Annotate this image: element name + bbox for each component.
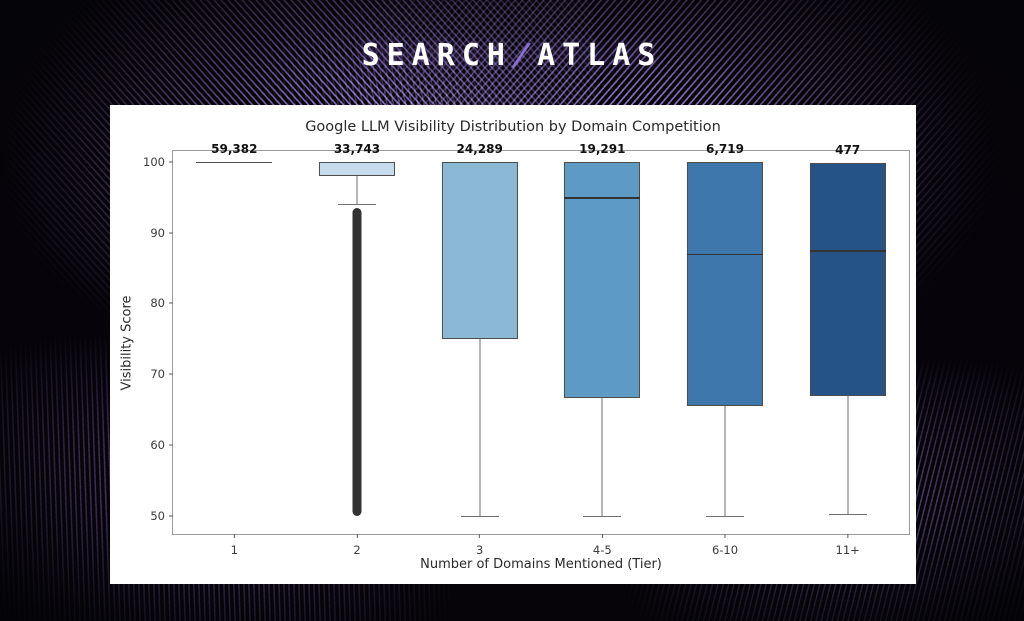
y-axis-tick-90: 90 [150, 226, 173, 240]
x-axis-tick-1: 1 [231, 534, 238, 557]
box-plot-group: 33,743 [296, 151, 419, 534]
flat-box-1 [196, 162, 272, 164]
x-axis-tick-11+: 11+ [836, 534, 860, 557]
x-axis-tick-2: 2 [353, 534, 360, 557]
y-axis-tick-50: 50 [150, 509, 173, 523]
plot-area: 506070809010059,382133,743224,289319,291… [172, 150, 910, 535]
outlier-cluster [352, 208, 361, 517]
box-plot-group: 59,382 [173, 151, 296, 534]
box-11+ [810, 163, 886, 396]
lower-whisker [602, 398, 603, 516]
box-count-label: 477 [835, 143, 860, 157]
lower-whisker [479, 339, 480, 516]
median-line [687, 254, 763, 256]
lower-whisker-cap [338, 204, 376, 205]
box-count-label: 33,743 [334, 142, 380, 156]
x-axis-tick-4-5: 4-5 [593, 534, 612, 557]
lower-whisker-cap [706, 516, 744, 517]
lower-whisker [847, 396, 848, 514]
y-axis-tick-70: 70 [150, 367, 173, 381]
x-axis-label: Number of Domains Mentioned (Tier) [172, 557, 910, 572]
box-6-10 [687, 162, 763, 407]
median-line [810, 250, 886, 252]
y-axis-label: Visibility Score [118, 150, 136, 535]
box-count-label: 6,719 [706, 142, 744, 156]
lower-whisker-cap [461, 516, 499, 517]
lower-whisker [724, 406, 725, 516]
box-count-label: 59,382 [211, 142, 257, 156]
searchatlas-logo: SEARCH/ATLAS [0, 38, 1024, 73]
lower-whisker-cap [583, 516, 621, 517]
x-axis-tick-6-10: 6-10 [712, 534, 738, 557]
box-plot-group: 477 [786, 151, 909, 534]
chart-title: Google LLM Visibility Distribution by Do… [110, 119, 916, 135]
y-axis-tick-80: 80 [150, 296, 173, 310]
lower-whisker-cap [829, 514, 867, 515]
logo-text-right: ATLAS [537, 38, 662, 73]
box-plot-group: 6,719 [664, 151, 787, 534]
box-3 [442, 162, 518, 339]
logo-text-left: SEARCH [362, 38, 512, 73]
y-axis-tick-100: 100 [143, 155, 173, 169]
x-axis-tick-3: 3 [476, 534, 483, 557]
box-plot-group: 24,289 [418, 151, 541, 534]
y-axis-tick-60: 60 [150, 438, 173, 452]
median-line [564, 197, 640, 199]
chart-card: Google LLM Visibility Distribution by Do… [110, 105, 916, 584]
box-count-label: 19,291 [579, 142, 625, 156]
box-2 [319, 162, 395, 176]
box-plot-group: 19,291 [541, 151, 664, 534]
lower-whisker [356, 176, 357, 204]
box-count-label: 24,289 [457, 142, 503, 156]
logo-slash-icon: / [508, 38, 541, 73]
